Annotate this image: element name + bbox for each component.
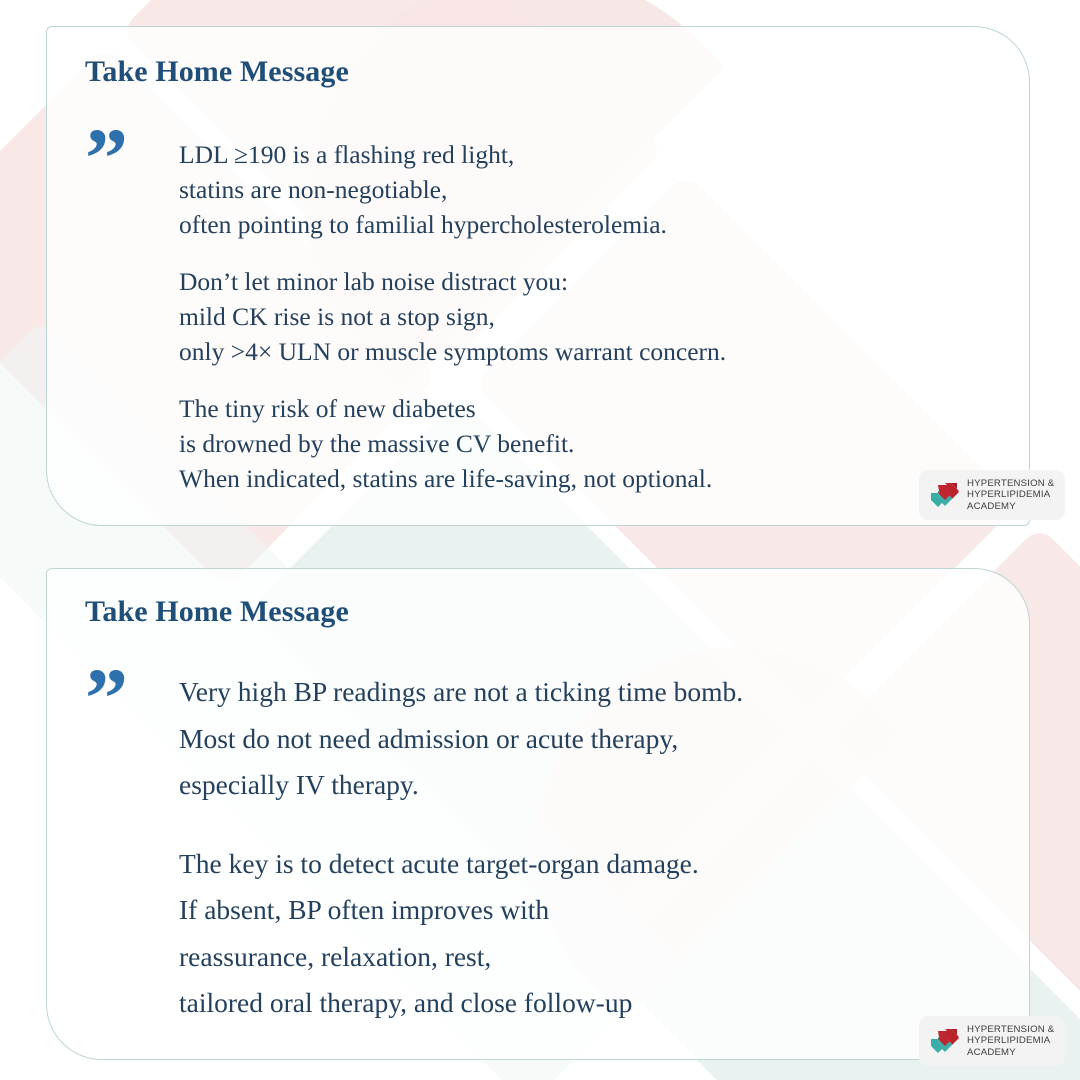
brand-line-3: ACADEMY — [967, 501, 1054, 512]
take-home-message-card-2: Take Home Message ” Very high BP reading… — [46, 568, 1030, 1060]
brand-logo-text: HYPERTENSION & HYPERLIPIDEMIA ACADEMY — [967, 1024, 1054, 1058]
body-line: mild CK rise is not a stop sign, — [179, 299, 969, 334]
brand-logo-badge: HYPERTENSION & HYPERLIPIDEMIA ACADEMY — [919, 470, 1065, 520]
card-body: LDL ≥190 is a flashing red light, statin… — [179, 137, 969, 518]
body-line: only >4× ULN or muscle symptoms warrant … — [179, 334, 969, 369]
body-line: Don’t let minor lab noise distract you: — [179, 264, 969, 299]
heart-chevron-logo-mark — [928, 480, 960, 510]
paragraph: Very high BP readings are not a ticking … — [179, 669, 989, 809]
card-body: Very high BP readings are not a ticking … — [179, 669, 989, 1059]
slide-canvas: Take Home Message ” LDL ≥190 is a flashi… — [0, 0, 1080, 1080]
body-line: often pointing to familial hypercholeste… — [179, 207, 969, 242]
card-title: Take Home Message — [85, 55, 349, 89]
body-line: LDL ≥190 is a flashing red light, — [179, 137, 969, 172]
brand-line-2: HYPERLIPIDEMIA — [967, 1035, 1054, 1046]
brand-logo-badge: HYPERTENSION & HYPERLIPIDEMIA ACADEMY — [919, 1016, 1065, 1066]
brand-line-1: HYPERTENSION & — [967, 1024, 1054, 1035]
body-line: If absent, BP often improves with — [179, 887, 989, 934]
body-line: Very high BP readings are not a ticking … — [179, 669, 989, 716]
brand-line-2: HYPERLIPIDEMIA — [967, 489, 1054, 500]
body-line: statins are non-negotiable, — [179, 172, 969, 207]
paragraph: The tiny risk of new diabetes is drowned… — [179, 391, 969, 496]
paragraph: The key is to detect acute target-organ … — [179, 841, 989, 1027]
quote-mark-icon: ” — [85, 115, 128, 201]
body-line: is drowned by the massive CV benefit. — [179, 426, 969, 461]
body-line: When indicated, statins are life-saving,… — [179, 461, 969, 496]
brand-line-3: ACADEMY — [967, 1047, 1054, 1058]
body-line: The tiny risk of new diabetes — [179, 391, 969, 426]
quote-mark-icon: ” — [85, 655, 128, 741]
body-line: reassurance, relaxation, rest, — [179, 934, 989, 981]
take-home-message-card-1: Take Home Message ” LDL ≥190 is a flashi… — [46, 26, 1030, 526]
paragraph: LDL ≥190 is a flashing red light, statin… — [179, 137, 969, 242]
paragraph: Don’t let minor lab noise distract you: … — [179, 264, 969, 369]
body-line: tailored oral therapy, and close follow-… — [179, 980, 989, 1027]
body-line: Most do not need admission or acute ther… — [179, 716, 989, 763]
heart-chevron-logo-mark — [928, 1026, 960, 1056]
body-line: The key is to detect acute target-organ … — [179, 841, 989, 888]
card-title: Take Home Message — [85, 595, 349, 629]
brand-line-1: HYPERTENSION & — [967, 478, 1054, 489]
brand-logo-text: HYPERTENSION & HYPERLIPIDEMIA ACADEMY — [967, 478, 1054, 512]
body-line: especially IV therapy. — [179, 762, 989, 809]
